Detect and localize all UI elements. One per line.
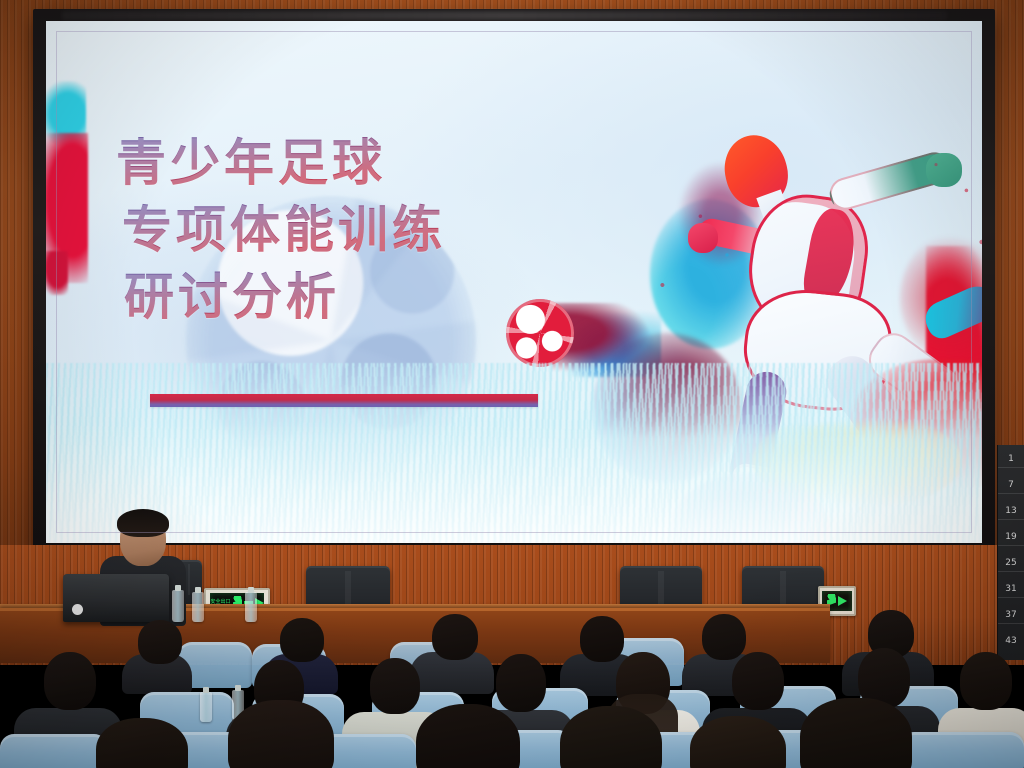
audience-area bbox=[0, 608, 1024, 768]
auditorium-seat bbox=[0, 734, 108, 768]
row-number: 13 bbox=[1000, 507, 1022, 516]
water-bottle bbox=[200, 692, 212, 722]
presenter-hair bbox=[117, 509, 169, 537]
row-number: 1 bbox=[1000, 455, 1022, 464]
grass-fade bbox=[46, 423, 982, 543]
arrow-right-icon bbox=[838, 596, 847, 606]
title-line-2: 专项体能训练 bbox=[122, 196, 546, 263]
audience-member bbox=[126, 620, 186, 686]
audience-member bbox=[416, 704, 520, 768]
row-number: 19 bbox=[1000, 533, 1022, 542]
presentation-slide: 青少年足球 专项体能训练 研讨分析 bbox=[46, 21, 982, 543]
row-number: 31 bbox=[1000, 585, 1022, 594]
bezel-glint bbox=[62, 11, 947, 20]
title-accent-bar bbox=[150, 394, 538, 407]
audience-member bbox=[800, 698, 912, 768]
row-number: 7 bbox=[1000, 481, 1022, 490]
auditorium-seat bbox=[900, 732, 1024, 768]
audience-member bbox=[560, 706, 662, 768]
audience-member bbox=[96, 718, 188, 768]
lecture-hall-scene: 青少年足球 专项体能训练 研讨分析 bbox=[0, 0, 1024, 768]
title-line-1: 青少年足球 bbox=[116, 129, 546, 196]
slide-title: 青少年足球 专项体能训练 研讨分析 bbox=[116, 129, 546, 330]
projection-screen-bezel: 青少年足球 专项体能训练 研讨分析 bbox=[33, 9, 995, 554]
title-line-3: 研讨分析 bbox=[124, 263, 546, 330]
audience-member bbox=[690, 716, 786, 768]
row-number: 25 bbox=[1000, 559, 1022, 568]
red-splatter-left-lower bbox=[46, 251, 68, 295]
audience-member bbox=[228, 700, 334, 768]
